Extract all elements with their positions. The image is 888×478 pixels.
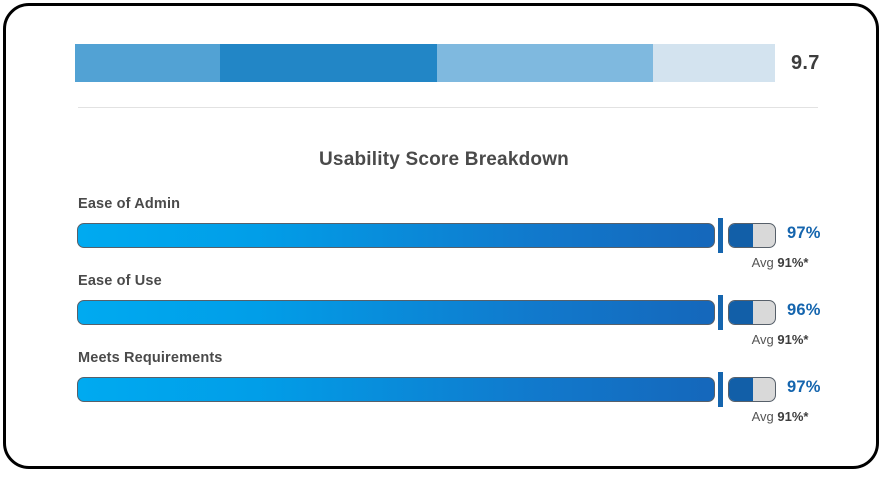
overall-score-value: 9.7 [791, 50, 861, 76]
benchmark-pill-fill [729, 378, 753, 401]
overall-score-row: 9.7 [75, 44, 775, 82]
metric-progress-bar [77, 377, 715, 402]
benchmark-tick-marker [718, 372, 723, 407]
segment-2 [220, 44, 437, 82]
metric-progress-bar [77, 223, 715, 248]
benchmark-tick-marker [718, 218, 723, 253]
metric-label: Meets Requirements [78, 350, 223, 366]
metric-label: Ease of Use [78, 273, 162, 289]
metric-average-caption: Avg 91%* [710, 255, 850, 270]
metric-value: 96% [787, 301, 821, 320]
benchmark-tick-marker [718, 295, 723, 330]
segment-4 [653, 44, 775, 82]
metric-value: 97% [787, 224, 821, 243]
page-title: Usability Score Breakdown [6, 149, 882, 171]
metric-row-ease-of-admin: Ease of Admin 97% Avg 91%* [75, 196, 835, 274]
metric-average-caption: Avg 91%* [710, 409, 850, 424]
average-word: Avg [752, 255, 774, 270]
metric-progress-bar [77, 300, 715, 325]
screenshot-root: 9.7 Usability Score Breakdown Ease of Ad… [0, 0, 888, 478]
benchmark-pill-fill [729, 301, 753, 324]
benchmark-pill-fill [729, 224, 753, 247]
metric-row-meets-requirements: Meets Requirements 97% Avg 91%* [75, 350, 835, 428]
section-divider [78, 107, 818, 108]
benchmark-pill [728, 377, 776, 402]
segment-3 [437, 44, 653, 82]
metric-label: Ease of Admin [78, 196, 180, 212]
segment-1 [75, 44, 220, 82]
average-value: 91%* [777, 409, 808, 424]
metric-value: 97% [787, 378, 821, 397]
average-word: Avg [752, 332, 774, 347]
metric-row-ease-of-use: Ease of Use 96% Avg 91%* [75, 273, 835, 351]
average-value: 91%* [777, 255, 808, 270]
metric-average-caption: Avg 91%* [710, 332, 850, 347]
average-value: 91%* [777, 332, 808, 347]
benchmark-pill [728, 223, 776, 248]
overall-score-segmented-bar [75, 44, 775, 82]
report-card: 9.7 Usability Score Breakdown Ease of Ad… [3, 3, 879, 469]
average-word: Avg [752, 409, 774, 424]
benchmark-pill [728, 300, 776, 325]
